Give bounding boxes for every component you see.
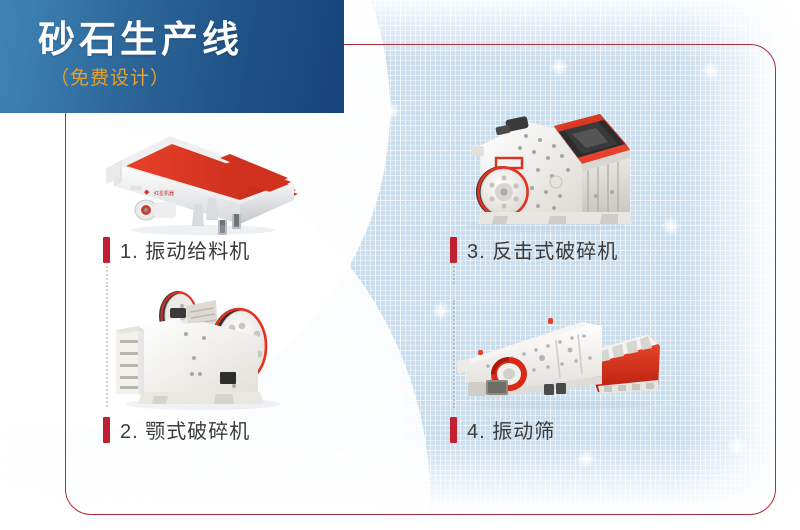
item-2-label: 2. 颚式破碎机 [103, 415, 250, 444]
item-1-label-text: 1. 振动给料机 [120, 235, 250, 264]
item-3-label: 3. 反击式破碎机 [450, 235, 618, 264]
vibrating-screen-image [452, 300, 664, 412]
title-banner: 砂石生产线 （免费设计） [0, 0, 344, 113]
item-2-label-text: 2. 颚式破碎机 [120, 415, 250, 444]
vibrating-feeder-image: ◆ 红星机器 [98, 120, 308, 235]
item-3-label-text: 3. 反击式破碎机 [467, 235, 618, 264]
item-3-marker [450, 237, 457, 263]
svg-text:◆: ◆ [144, 188, 150, 196]
item-3-dotted-connector [453, 262, 457, 284]
page-title: 砂石生产线 [38, 18, 243, 62]
item-4-label-text: 4. 振动筛 [467, 415, 555, 444]
impact-crusher-image [450, 100, 640, 235]
item-4-dotted-connector [453, 300, 457, 408]
item-4-label: 4. 振动筛 [450, 415, 555, 444]
item-1-label: 1. 振动给料机 [103, 235, 250, 264]
page-subtitle: （免费设计） [50, 66, 170, 92]
item-2-dotted-connector [106, 285, 110, 407]
sandstone-production-line-banner: ◆ 红星机器 [0, 0, 800, 530]
item-1-marker [103, 237, 110, 263]
item-2-marker [103, 417, 110, 443]
jaw-crusher-image [108, 278, 298, 413]
svg-text:红星机器: 红星机器 [154, 190, 174, 197]
item-4-marker [450, 417, 457, 443]
